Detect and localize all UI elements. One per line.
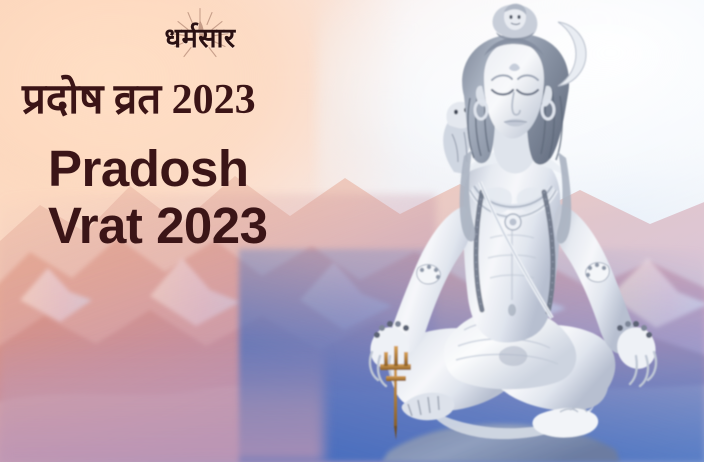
headline-english: Pradosh Vrat 2023	[48, 140, 388, 254]
brand-logo: धर्मसार	[0, 8, 400, 64]
headline-hindi: प्रदोष व्रत 2023	[22, 78, 392, 122]
brand-name: धर्मसार	[164, 18, 235, 55]
ganga-figure-icon	[493, 4, 538, 41]
pradosh-vrat-banner: धर्मसार प्रदोष व्रत 2023 Pradosh Vrat 20…	[0, 0, 704, 462]
headline-english-line1: Pradosh	[48, 140, 388, 197]
headline-english-line2: Vrat 2023	[48, 197, 388, 254]
